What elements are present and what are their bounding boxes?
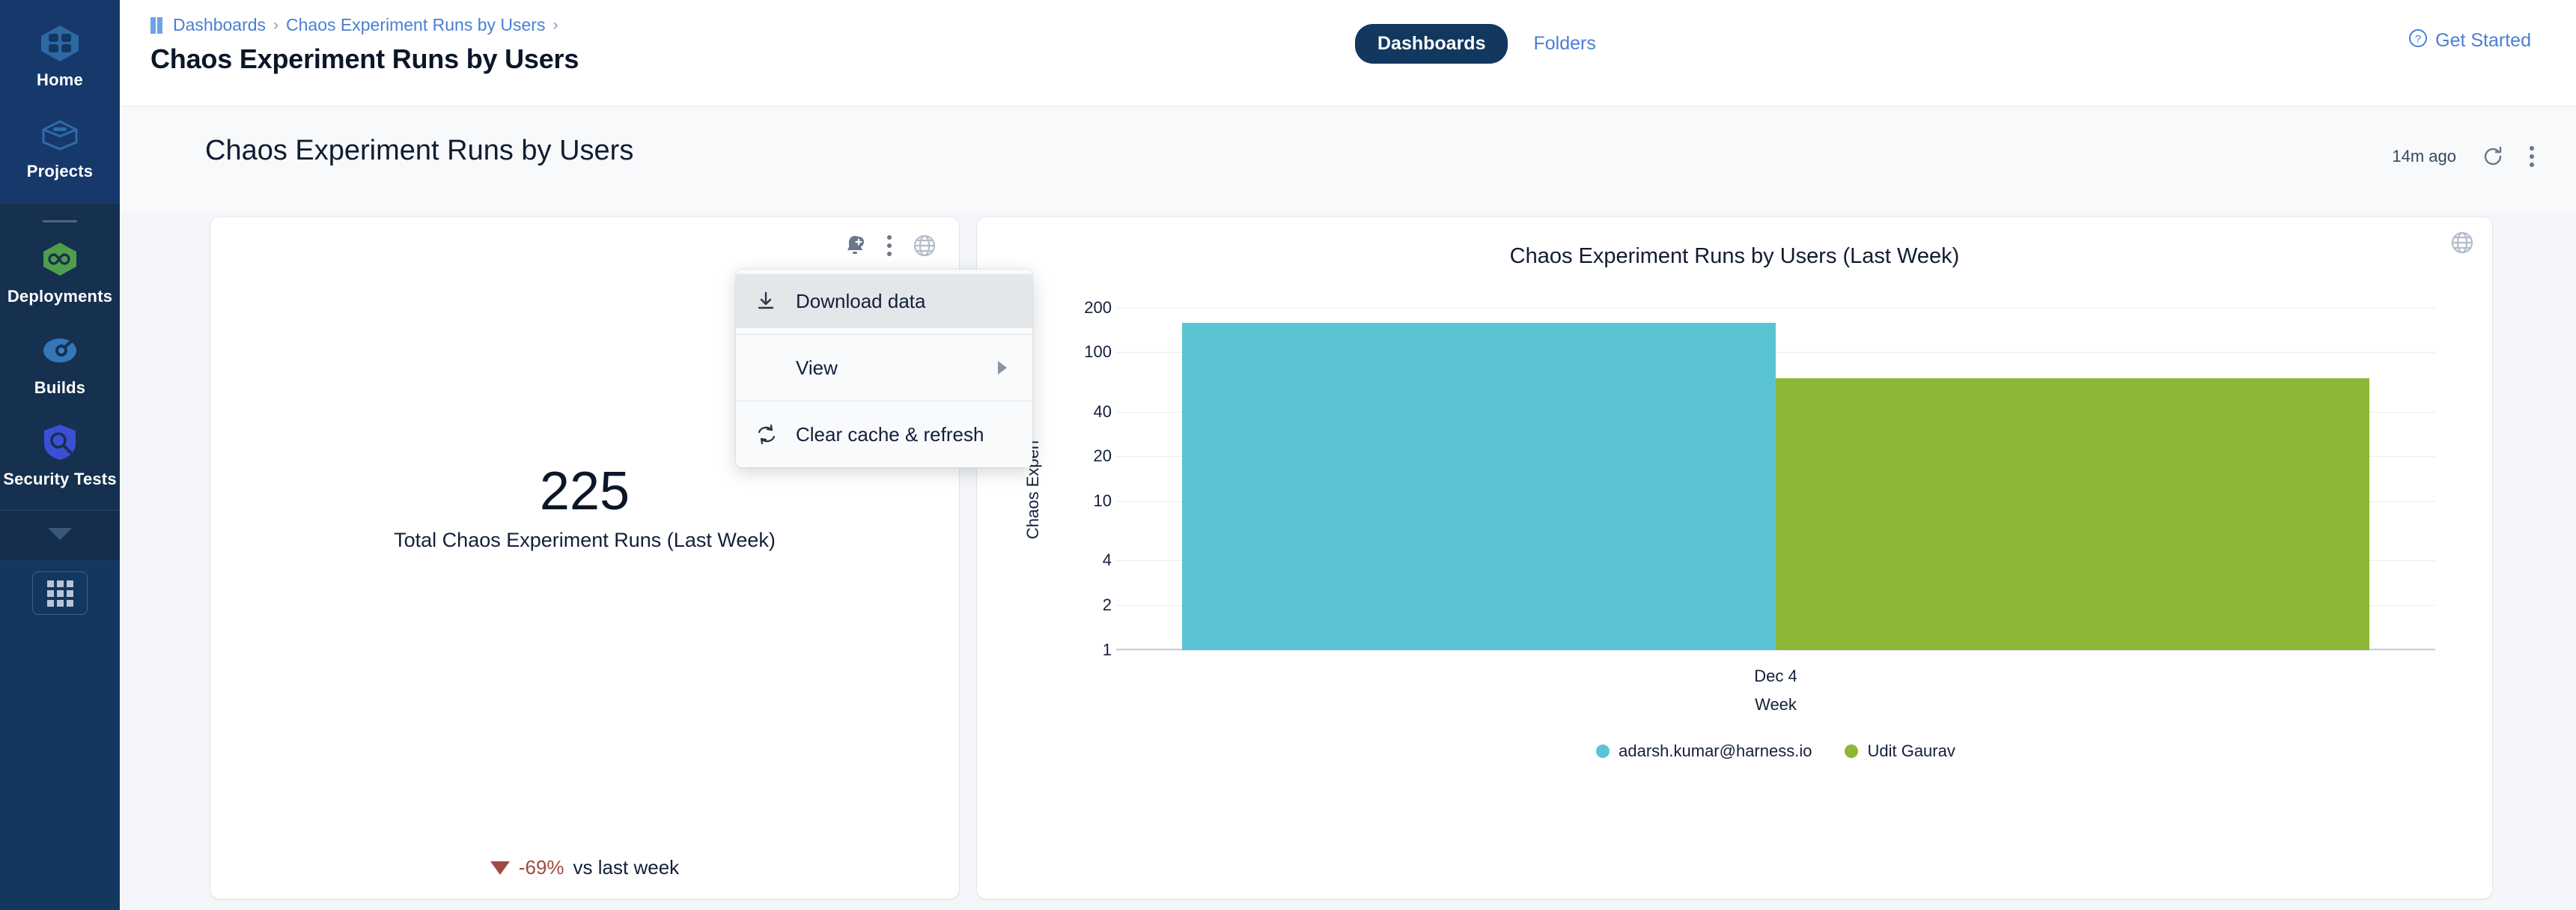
kpi-main: 225 Total Chaos Experiment Runs (Last We… [210,464,959,552]
kpi-card-tools [844,234,937,258]
kpi-delta-suffix: vs last week [573,856,680,879]
kebab-menu-icon[interactable] [887,235,892,256]
chart-y-tick-label: 200 [1084,298,1112,318]
sidebar-item-home[interactable]: Home [0,10,120,102]
chart-y-tick-label: 20 [1094,446,1112,466]
sidebar-section-modules: Deployments Builds [0,204,120,510]
alert-bell-add-icon[interactable] [844,234,866,258]
breadcrumb-separator: › [552,16,558,34]
chart-x-tick-label: Dec 4 [1116,667,2435,686]
chart-card: Chaos Experiment Runs by Users (Last Wee… [977,217,2492,899]
projects-icon [37,112,83,156]
kebab-menu-icon[interactable] [2530,146,2534,167]
sidebar-item-builds[interactable]: Builds [0,318,120,410]
sidebar-item-label: Deployments [7,287,112,306]
menu-separator [736,334,1032,335]
sidebar-item-deployments[interactable]: Deployments [0,227,120,318]
chart-x-axis-label: Week [1116,695,2435,715]
sidebar-item-label: Projects [27,162,93,181]
tile-context-menu: Download data View Clear cache & refresh [736,270,1032,467]
chevron-down-icon [45,524,75,546]
globe-icon[interactable] [913,234,937,258]
chart-bar[interactable] [1182,323,1776,650]
chevron-right-icon [998,361,1007,374]
chart-bar[interactable] [1776,378,2369,650]
page-scrollbar[interactable] [2569,106,2576,910]
legend-item-0[interactable]: adarsh.kumar@harness.io [1596,741,1812,761]
last-updated-text: 14m ago [2392,147,2456,166]
menu-item-clear-cache-refresh[interactable]: Clear cache & refresh [736,407,1032,461]
dashboard-title: Chaos Experiment Runs by Users [205,135,633,167]
page-title: Chaos Experiment Runs by Users [150,43,579,75]
legend-swatch [1596,744,1610,758]
chart-card-tools [2450,231,2474,255]
chart-y-tick-label: 4 [1103,550,1112,570]
dashboard-toolbar: Chaos Experiment Runs by Users 14m ago [120,106,2576,211]
kpi-label: Total Chaos Experiment Runs (Last Week) [394,529,776,552]
globe-icon[interactable] [2450,231,2474,255]
menu-item-label: View [796,357,838,380]
chart-gridline [1116,308,2435,309]
sidebar-item-label: Home [37,70,83,90]
builds-icon [37,329,83,372]
security-tests-icon [37,420,83,464]
chart-gridline [1116,650,2435,651]
legend-label: adarsh.kumar@harness.io [1619,741,1812,761]
kpi-value: 225 [540,464,630,518]
apps-grid-icon [47,580,73,607]
sidebar-item-label: Security Tests [3,470,117,489]
breadcrumb: Dashboards › Chaos Experiment Runs by Us… [150,15,558,35]
kpi-delta-value: -69% [519,856,564,879]
top-header: Dashboards › Chaos Experiment Runs by Us… [120,0,2576,106]
breadcrumb-link-current[interactable]: Chaos Experiment Runs by Users [286,15,545,35]
legend-label: Udit Gaurav [1867,741,1955,761]
sidebar-item-projects[interactable]: Projects [0,102,120,193]
chart-y-tick-label: 40 [1094,402,1112,422]
kpi-delta: -69% vs last week [210,856,959,879]
sidebar-item-security-tests[interactable]: Security Tests [0,410,120,501]
chart-y-tick-label: 100 [1084,342,1112,362]
refresh-cycle-icon [755,424,796,445]
menu-item-label: Download data [796,290,925,313]
sidebar-section-primary: Home Projects [0,0,120,204]
breadcrumb-link-dashboards[interactable]: Dashboards [173,15,266,35]
get-started-button[interactable]: ? Get Started [2408,28,2531,53]
trend-down-icon [490,861,510,875]
sidebar-apps-area [0,559,120,649]
help-circle-icon: ? [2408,28,2428,53]
menu-item-view[interactable]: View [736,341,1032,395]
chart-y-tick-label: 2 [1103,595,1112,615]
home-icon [37,21,83,64]
chart-plot-area: 200100402010421 [1116,291,2435,650]
menu-item-label: Clear cache & refresh [796,423,984,446]
svg-text:?: ? [2415,33,2421,46]
menu-separator [736,401,1032,401]
menu-item-download-data[interactable]: Download data [736,274,1032,328]
dashboard-toolbar-actions: 14m ago [2392,145,2534,168]
legend-swatch [1845,744,1858,758]
download-icon [755,291,796,312]
sidebar-divider [0,204,120,227]
refresh-icon[interactable] [2482,145,2504,168]
chart-y-tick-label: 1 [1103,640,1112,660]
breadcrumb-separator: › [273,16,278,34]
get-started-label: Get Started [2435,30,2531,52]
tab-folders[interactable]: Folders [1533,33,1595,55]
apps-grid-button[interactable] [32,571,88,615]
sidebar: Home Projects [0,0,120,910]
sidebar-collapse-button[interactable] [0,510,120,559]
deployments-icon [37,237,83,281]
chart-y-tick-label: 10 [1094,491,1112,511]
dashboards-icon [150,17,165,34]
header-nav: Dashboards Folders [1355,24,1596,64]
sidebar-item-label: Builds [34,378,85,398]
chart-legend: adarsh.kumar@harness.io Udit Gaurav [1116,741,2435,761]
tab-dashboards[interactable]: Dashboards [1355,24,1508,64]
legend-item-1[interactable]: Udit Gaurav [1845,741,1955,761]
chart-title: Chaos Experiment Runs by Users (Last Wee… [977,244,2492,269]
